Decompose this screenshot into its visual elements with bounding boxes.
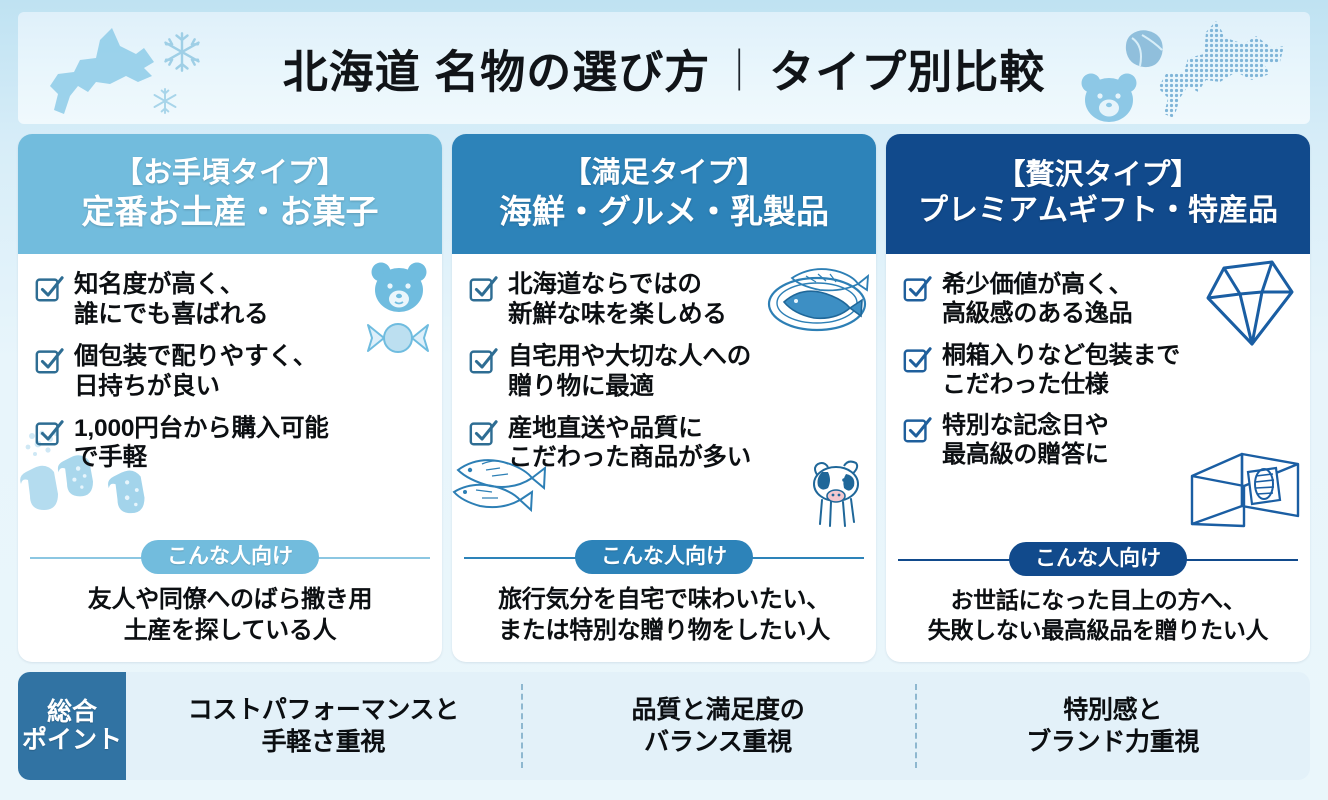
feature-item: 知名度が高く、 誰にでも喜ばれる [34, 270, 426, 330]
header-banner: 北海道 名物の選び方｜タイプ別比較 [18, 12, 1310, 124]
checkbox-checked-icon [34, 346, 64, 376]
summary-cell: 特別感と ブランド力重視 [915, 672, 1310, 780]
checkbox-checked-icon [902, 345, 932, 375]
feature-item: 桐箱入りなど包装まで こだわった仕様 [902, 341, 1294, 400]
checkbox-checked-icon [34, 418, 64, 448]
target-description: 旅行気分を自宅で味わいたい、 または特別な贈り物をしたい人 [452, 580, 876, 662]
feature-text: 知名度が高く、 誰にでも喜ばれる [74, 270, 268, 330]
target-description: 友人や同僚へのばら撒き用 土産を探している人 [18, 580, 442, 662]
feature-text: 桐箱入りなど包装まで こだわった仕様 [942, 341, 1180, 400]
checkbox-checked-icon [902, 274, 932, 304]
summary-bar: 総合 ポイント コストパフォーマンスと 手軽さ重視 品質と満足度の バランス重視… [18, 672, 1310, 780]
column-type-label: 【お手頃タイプ】 [114, 157, 346, 191]
target-badge: こんな人向け [575, 540, 753, 574]
comparison-columns: 【お手頃タイプ】 定番お土産・お菓子 [18, 134, 1310, 662]
feature-text: 特別な記念日や 最高級の贈答に [942, 411, 1109, 470]
feature-text: 北海道ならではの 新鮮な味を楽しめる [508, 270, 727, 330]
target-badge: こんな人向け [1009, 542, 1187, 576]
checkbox-checked-icon [468, 346, 498, 376]
summary-cell: 品質と満足度の バランス重視 [521, 672, 916, 780]
title-main: 北海道 名物の選び方 [283, 47, 711, 98]
feature-text: 個包装で配りやすく、 日持ちが良い [74, 342, 317, 402]
column-body-affordable: 知名度が高く、 誰にでも喜ばれる 個包装で配りやすく、 日持ちが良い 1,000… [18, 254, 442, 538]
column-header-satisfaction: 【満足タイプ】 海鮮・グルメ・乳製品 [452, 134, 876, 254]
feature-item: 産地直送や品質に こだわった商品が多い [468, 414, 860, 474]
checkbox-checked-icon [902, 415, 932, 445]
checkbox-checked-icon [468, 274, 498, 304]
feature-text: 1,000円台から購入可能 で手軽 [74, 414, 329, 474]
feature-item: 希少価値が高く、 高級感のある逸品 [902, 270, 1294, 329]
target-description: お世話になった目上の方へ、 失敗しない最高級品を贈りたい人 [886, 582, 1310, 662]
summary-badge: 総合 ポイント [18, 672, 126, 780]
column-header-affordable: 【お手頃タイプ】 定番お土産・お菓子 [18, 134, 442, 254]
feature-text: 希少価値が高く、 高級感のある逸品 [942, 270, 1132, 329]
column-satisfaction: 【満足タイプ】 海鮮・グルメ・乳製品 [452, 134, 876, 662]
feature-item: 1,000円台から購入可能 で手軽 [34, 414, 426, 474]
column-body-luxury: 希少価値が高く、 高級感のある逸品 桐箱入りなど包装まで こだわった仕様 特別な… [886, 254, 1310, 540]
column-affordable: 【お手頃タイプ】 定番お土産・お菓子 [18, 134, 442, 662]
column-header-luxury: 【贅沢タイプ】 プレミアムギフト・特産品 [886, 134, 1310, 254]
target-divider: こんな人向け [464, 540, 864, 574]
feature-text: 自宅用や大切な人への 贈り物に最適 [508, 342, 751, 402]
title-sub: タイプ別比較 [769, 47, 1045, 98]
feature-item: 個包装で配りやすく、 日持ちが良い [34, 342, 426, 402]
feature-item: 自宅用や大切な人への 贈り物に最適 [468, 342, 860, 402]
checkbox-checked-icon [468, 418, 498, 448]
page-title: 北海道 名物の選び方｜タイプ別比較 [18, 36, 1310, 101]
column-name-label: 海鮮・グルメ・乳製品 [499, 193, 829, 231]
column-type-label: 【満足タイプ】 [562, 157, 765, 191]
checkbox-checked-icon [34, 274, 64, 304]
target-badge: こんな人向け [141, 540, 319, 574]
column-body-satisfaction: 北海道ならではの 新鮮な味を楽しめる 自宅用や大切な人への 贈り物に最適 産地直… [452, 254, 876, 538]
column-type-label: 【贅沢タイプ】 [996, 159, 1199, 193]
feature-item: 北海道ならではの 新鮮な味を楽しめる [468, 270, 860, 330]
target-divider: こんな人向け [898, 542, 1298, 576]
feature-text: 産地直送や品質に こだわった商品が多い [508, 414, 751, 474]
column-luxury: 【贅沢タイプ】 プレミアムギフト・特産品 [886, 134, 1310, 662]
column-name-label: 定番お土産・お菓子 [82, 193, 379, 231]
feature-item: 特別な記念日や 最高級の贈答に [902, 411, 1294, 470]
target-divider: こんな人向け [30, 540, 430, 574]
column-name-label: プレミアムギフト・特産品 [918, 194, 1278, 229]
title-separator: ｜ [718, 48, 761, 95]
summary-cell: コストパフォーマンスと 手軽さ重視 [126, 672, 521, 780]
